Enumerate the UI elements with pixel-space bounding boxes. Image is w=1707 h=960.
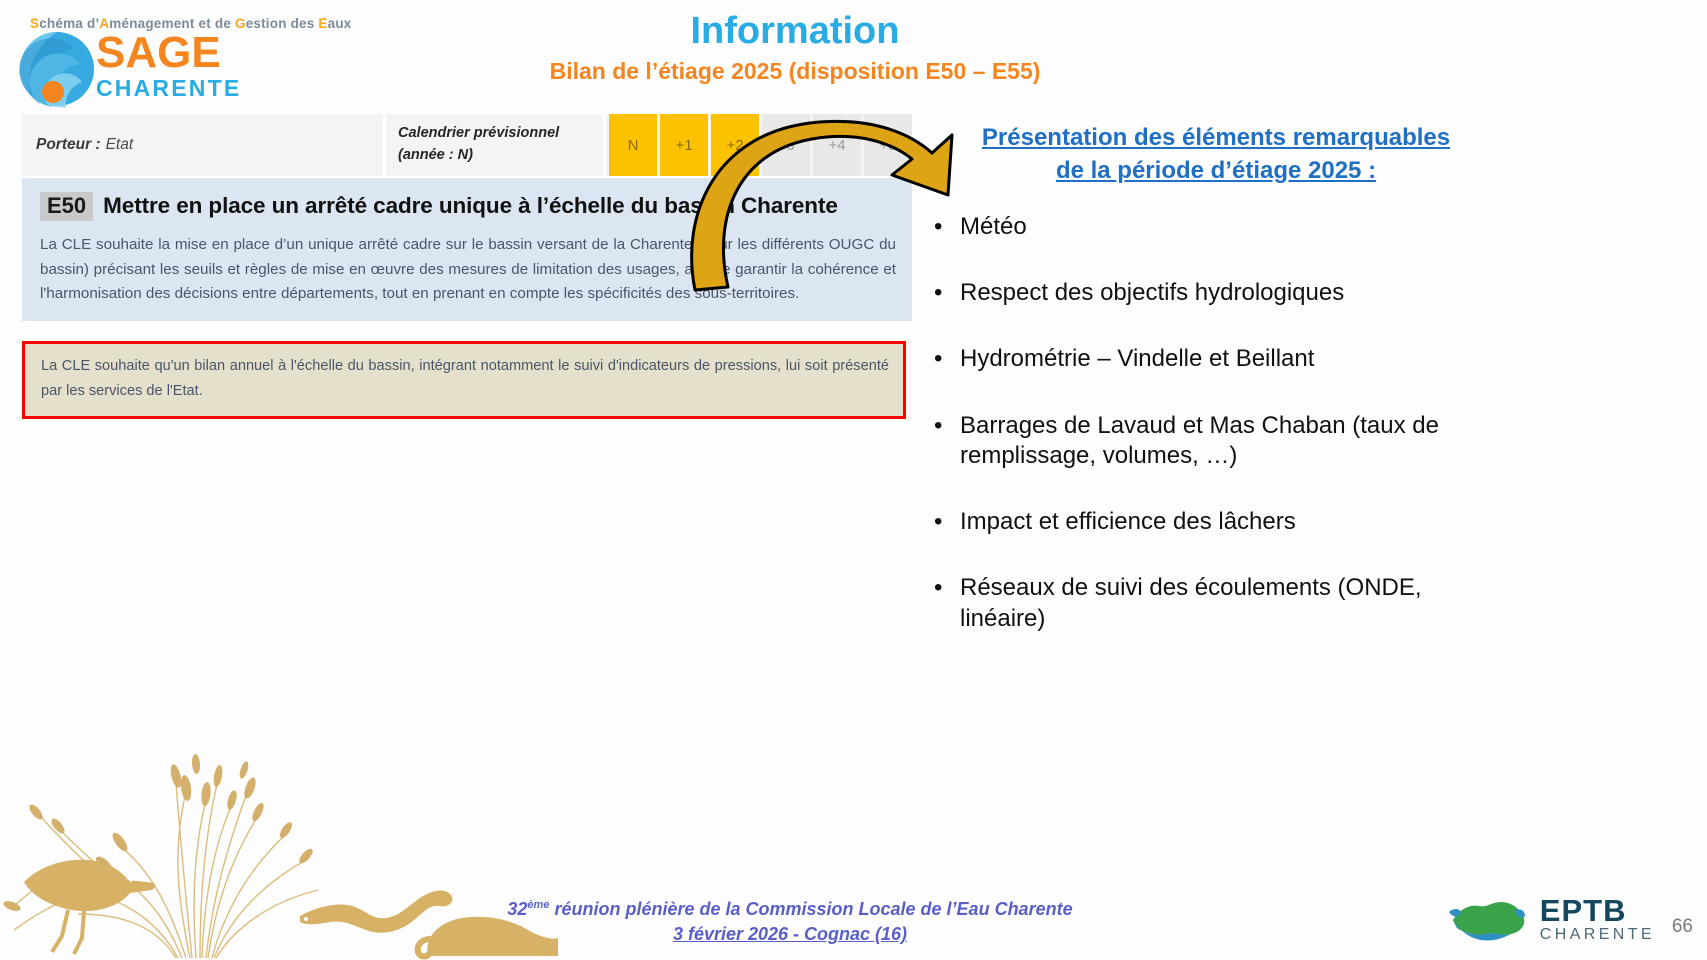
right-panel-heading: Présentation des éléments remarquables d…: [946, 122, 1486, 187]
sage-water-swirl-icon: [18, 30, 96, 108]
topic-item: •Barrages de Lavaud et Mas Chaban (taux …: [930, 411, 1510, 471]
page-title: Information: [430, 10, 1160, 53]
bullet-dot-icon: •: [934, 573, 942, 603]
eptb-word-bottom: CHARENTE: [1540, 927, 1655, 943]
topic-item: •Impact et efficience des lâchers: [930, 507, 1510, 537]
calendrier-cell: Calendrier prévisionnel (année : N): [386, 114, 606, 176]
topic-item: •Respect des objectifs hydrologiques: [930, 278, 1510, 308]
bullet-dot-icon: •: [934, 507, 942, 537]
bullet-dot-icon: •: [934, 212, 942, 242]
disposition-title: Mettre en place un arrêté cadre unique à…: [103, 193, 838, 219]
reeds-icon: [10, 780, 318, 958]
year-cell-plus3: +3: [762, 114, 810, 176]
sage-tagline-part-5: estion des: [246, 16, 319, 31]
right-heading-line-1: Présentation des éléments remarquables: [982, 124, 1450, 151]
card-header-row: Porteur : Etat Calendrier prévisionnel (…: [22, 114, 912, 178]
topic-item: •Météo: [930, 212, 1510, 242]
slide-root: Schéma d’Aménagement et de Gestion des E…: [0, 0, 1707, 960]
topic-item: •Hydrométrie – Vindelle et Beillant: [930, 344, 1510, 374]
year-cell-plus5: +5: [864, 114, 912, 176]
wading-bird-icon: [24, 860, 155, 954]
topic-item-label: Météo: [960, 213, 1027, 240]
topic-item: •Réseaux de suivi des écoulements (ONDE,…: [930, 573, 1510, 633]
footer-line-1-prefix: 32: [507, 899, 527, 919]
eptb-word-top: EPTB: [1540, 895, 1655, 926]
eptb-wordmark: EPTB CHARENTE: [1540, 895, 1655, 943]
page-number: 66: [1672, 916, 1693, 938]
eptb-basin-map-icon: [1445, 890, 1531, 948]
sage-tagline-part-6: E: [318, 16, 327, 31]
footer-caption: 32ème réunion plénière de la Commission …: [330, 897, 1250, 948]
topic-item-label: Respect des objectifs hydrologiques: [960, 279, 1344, 306]
year-cell-plus4: +4: [813, 114, 861, 176]
disposition-body-text: La CLE souhaite la mise en place d’un un…: [40, 233, 896, 307]
year-cells-group: N+1+2+3+4+5: [606, 114, 912, 176]
footer-line-2: 3 février 2026 - Cognac (16): [330, 922, 1250, 948]
bullet-dot-icon: •: [934, 344, 942, 374]
porteur-label: Porteur :: [36, 136, 101, 154]
year-cell-N: N: [609, 114, 657, 176]
porteur-value: Etat: [106, 136, 134, 154]
topic-item-label: Barrages de Lavaud et Mas Chaban (taux d…: [960, 412, 1439, 469]
page-subtitle: Bilan de l’étiage 2025 (disposition E50 …: [400, 58, 1190, 85]
porteur-cell: Porteur : Etat: [22, 114, 386, 176]
eptb-logo: EPTB CHARENTE: [1445, 890, 1655, 948]
topics-list: •Météo•Respect des objectifs hydrologiqu…: [930, 212, 1510, 670]
sage-word-top: SAGE: [96, 31, 241, 75]
sage-wordmark: SAGE CHARENTE: [96, 31, 241, 100]
highlight-box: La CLE souhaite qu'un bilan annuel à l'é…: [22, 341, 906, 419]
topic-item-label: Hydrométrie – Vindelle et Beillant: [960, 345, 1314, 372]
bullet-dot-icon: •: [934, 278, 942, 308]
year-cell-plus1: +1: [660, 114, 708, 176]
year-cell-plus2: +2: [711, 114, 759, 176]
footer-line-1-rest: réunion plénière de la Commission Locale…: [549, 899, 1072, 919]
sage-tagline-part-7: aux: [328, 16, 352, 31]
sage-word-bottom: CHARENTE: [96, 77, 241, 100]
right-heading-line-2: de la période d’étiage 2025 :: [1056, 157, 1376, 184]
topic-item-label: Réseaux de suivi des écoulements (ONDE, …: [960, 574, 1422, 631]
footer-line-1-sup: ème: [527, 899, 549, 911]
highlight-box-text: La CLE souhaite qu'un bilan annuel à l'é…: [41, 354, 889, 404]
sage-tagline-part-0: S: [30, 16, 39, 31]
bullet-dot-icon: •: [934, 411, 942, 441]
card-body: E50 Mettre en place un arrêté cadre uniq…: [22, 178, 912, 321]
sage-tagline-part-1: chéma d’: [39, 16, 99, 31]
disposition-heading: E50 Mettre en place un arrêté cadre uniq…: [40, 192, 898, 221]
topic-item-label: Impact et efficience des lâchers: [960, 508, 1296, 535]
disposition-code-badge: E50: [40, 192, 93, 221]
calendrier-line-2: (année : N): [398, 145, 603, 167]
sage-tagline-part-4: G: [235, 16, 246, 31]
sage-logo: Schéma d’Aménagement et de Gestion des E…: [12, 8, 342, 108]
disposition-card: Porteur : Etat Calendrier prévisionnel (…: [22, 114, 912, 321]
reed-seedheads-icon: [2, 754, 315, 913]
calendrier-line-1: Calendrier prévisionnel: [398, 123, 603, 145]
footer-line-1: 32ème réunion plénière de la Commission …: [330, 897, 1250, 923]
